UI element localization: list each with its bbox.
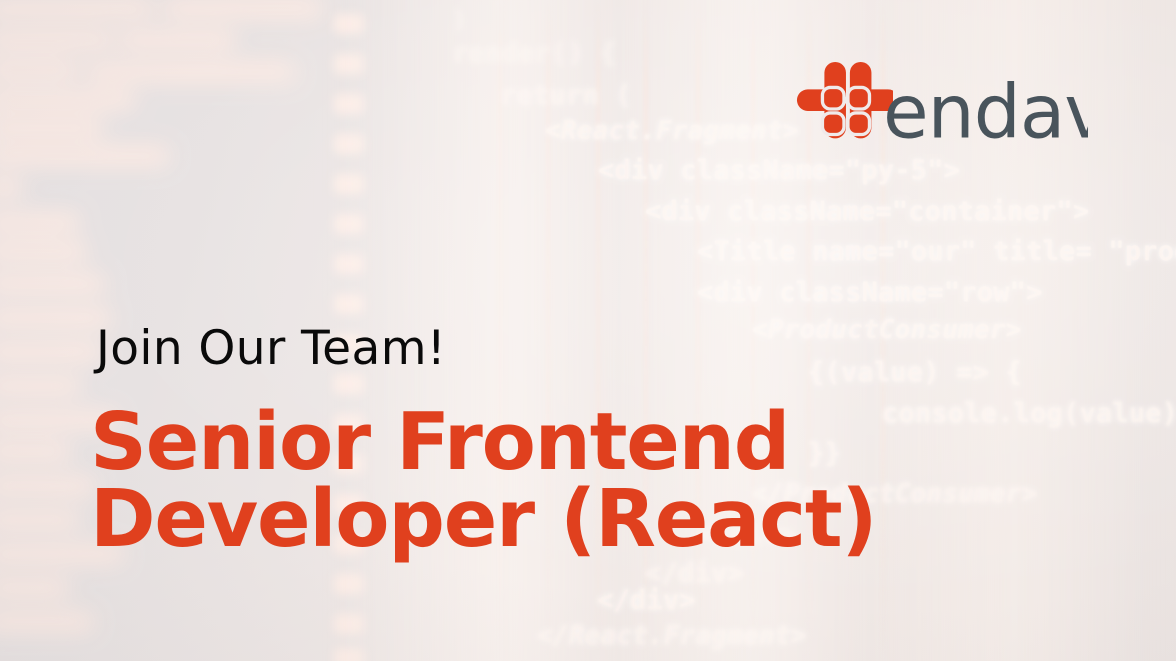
headline-line-1: Senior Frontend <box>90 404 876 481</box>
endava-logo-mark-icon <box>795 60 893 158</box>
svg-text:endava: endava <box>883 69 1088 155</box>
kicker-text: Join Our Team! <box>96 321 446 376</box>
endava-wordmark-text: endava <box>883 62 1088 162</box>
endava-logo: endava <box>795 60 1085 165</box>
headline-line-2: Developer (React) <box>90 481 876 558</box>
job-title-headline: Senior Frontend Developer (React) <box>90 404 876 557</box>
endava-wordmark: endava <box>883 62 1088 162</box>
job-ad-banner: )render() {return (<React.Fragment><div … <box>0 0 1176 661</box>
